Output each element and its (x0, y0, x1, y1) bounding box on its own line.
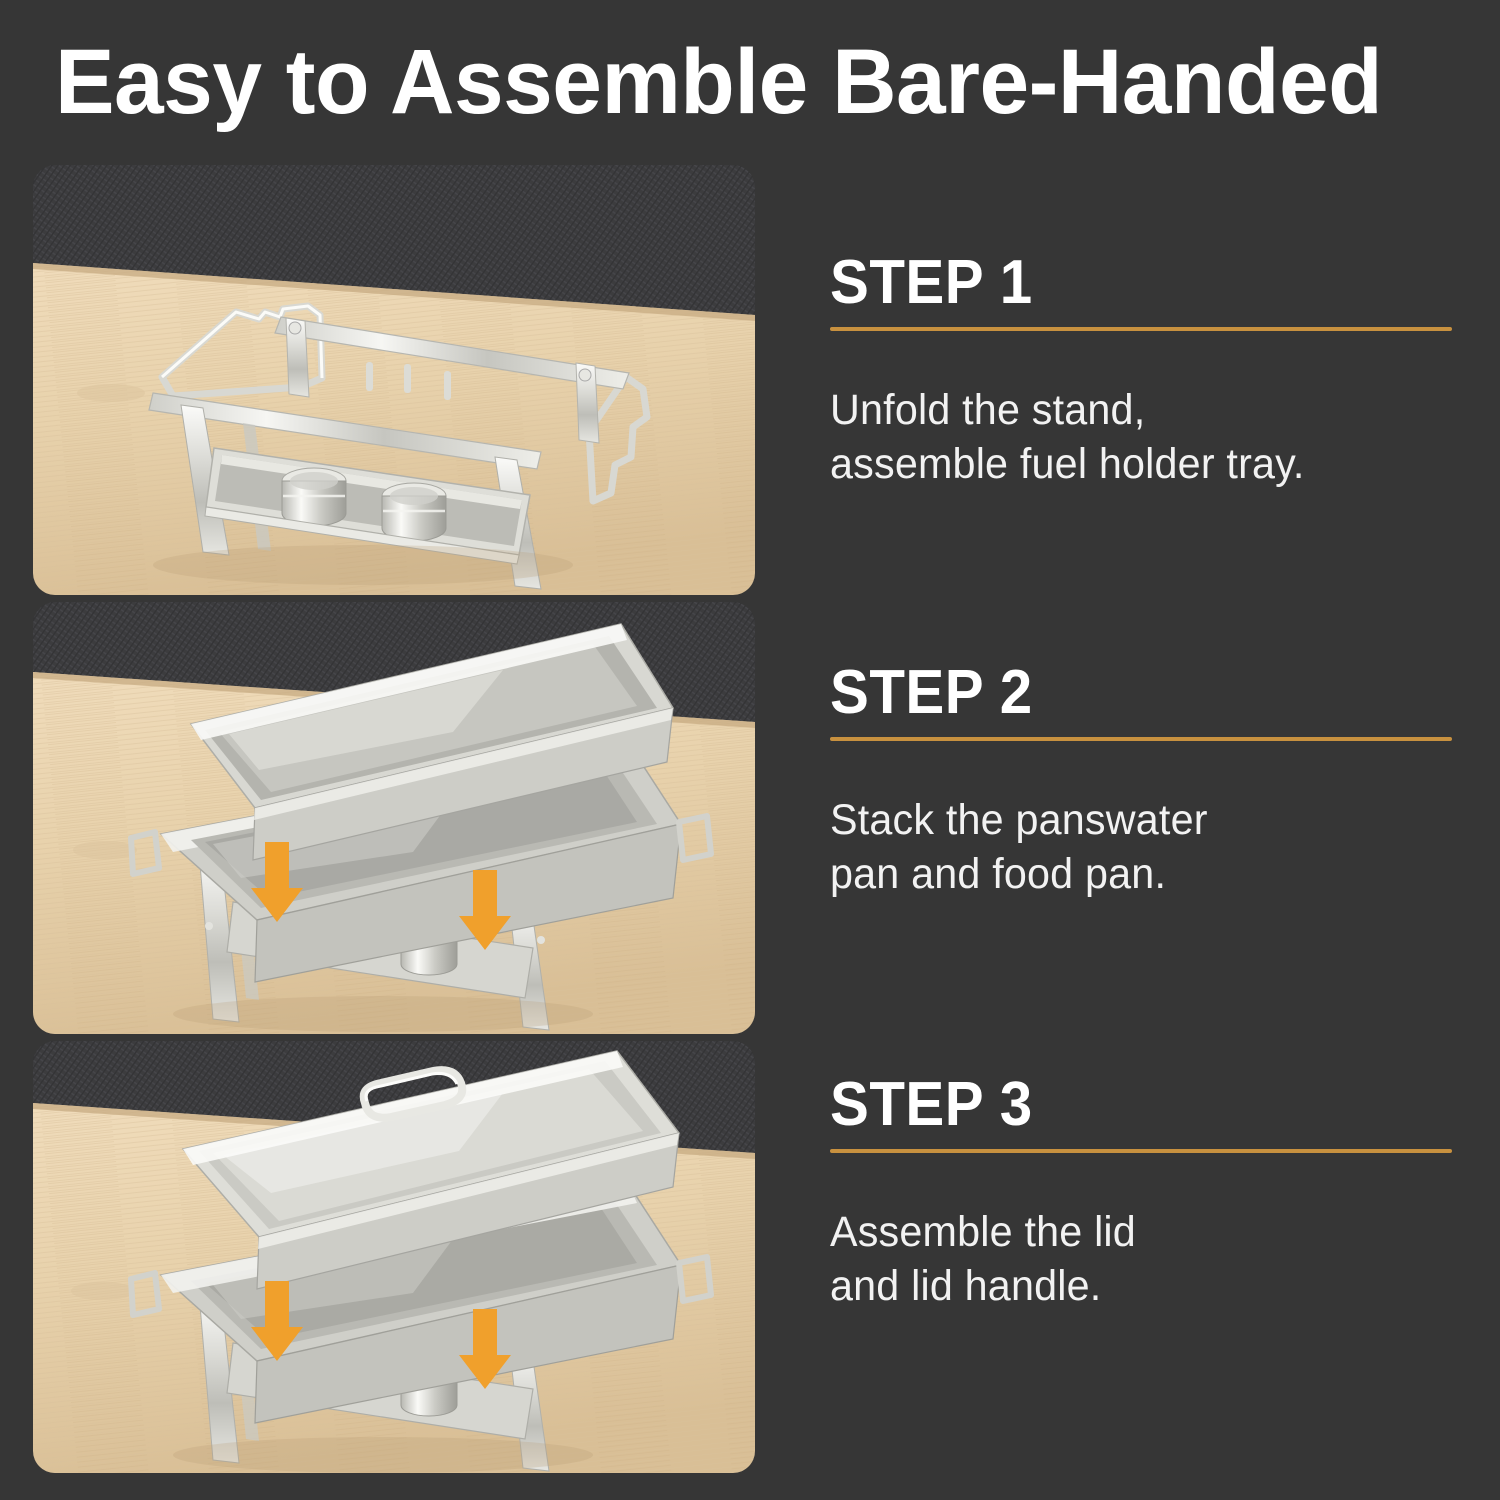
stand-illustration (33, 165, 755, 595)
step-2-description: Stack the panswater pan and food pan. (830, 793, 1430, 901)
step-photo-2 (33, 602, 755, 1034)
step-photo-1 (33, 165, 755, 595)
step-3-heading: STEP 3 (830, 1073, 1418, 1137)
step-2-divider (830, 737, 1452, 741)
pan-stacking-illustration (33, 602, 755, 1034)
infographic-page: Easy to Assemble Bare-Handed (0, 0, 1500, 1500)
step-block-3: STEP 3 Assemble the lid and lid handle. (830, 901, 1455, 1313)
lid-assembly-illustration (33, 1041, 755, 1473)
step-photo-3 (33, 1041, 755, 1473)
step-block-2: STEP 2 Stack the panswater pan and food … (830, 491, 1455, 901)
step-3-description: Assemble the lid and lid handle. (830, 1205, 1430, 1313)
step-1-description: Unfold the stand, assemble fuel holder t… (830, 383, 1430, 491)
step-1-divider (830, 327, 1452, 331)
step-3-divider (830, 1149, 1452, 1153)
step-block-1: STEP 1 Unfold the stand, assemble fuel h… (830, 165, 1455, 491)
step-1-heading: STEP 1 (830, 251, 1418, 315)
photo-column (33, 165, 755, 1480)
page-title: Easy to Assemble Bare-Handed (55, 30, 1432, 134)
step-2-heading: STEP 2 (830, 661, 1418, 725)
steps-column: STEP 1 Unfold the stand, assemble fuel h… (830, 165, 1455, 1313)
